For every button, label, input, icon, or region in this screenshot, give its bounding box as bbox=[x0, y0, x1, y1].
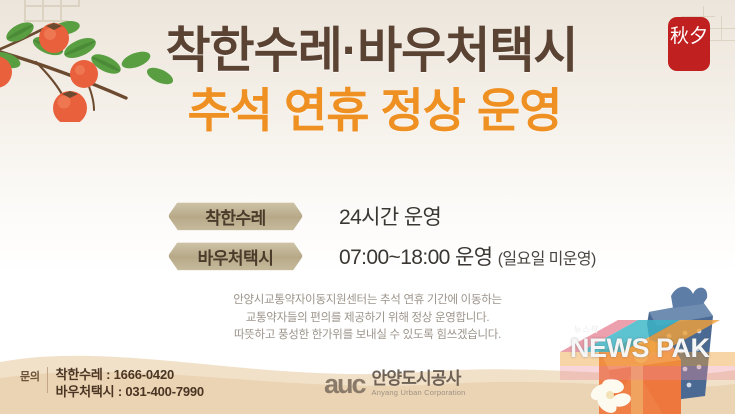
anyang-urban-corporation-logo: auc 안양도시공사 Anyang Urban Corporation bbox=[324, 370, 466, 398]
logo-text-block: 안양도시공사 Anyang Urban Corporation bbox=[372, 370, 466, 398]
contact-lines: 착한수레 : 1666-0420 바우처택시 : 031-400-7990 bbox=[56, 366, 204, 400]
page-subtitle: 추석 연휴 정상 운영 bbox=[0, 80, 735, 142]
contact-label: 문의 bbox=[20, 366, 40, 384]
headline-block: 착한수레·바우처택시 추석 연휴 정상 운영 bbox=[0, 22, 735, 142]
footer-contact-block: 문의 착한수레 : 1666-0420 바우처택시 : 031-400-7990 bbox=[20, 366, 204, 400]
service-chip-chakhansure: 착한수레 bbox=[168, 202, 303, 231]
service-chip-voucher-taxi: 바우처택시 bbox=[168, 242, 303, 271]
service-hours-chakhansure: 24시간 운영 bbox=[339, 201, 441, 231]
news-pak-watermark: 뉴스팍 NEWS PAK bbox=[560, 318, 735, 380]
chuseok-service-notice-banner: 秋夕 착한수레·바우처택시 추석 연휴 정상 운영 착한수레 24시간 운영 바… bbox=[0, 0, 735, 414]
service-row-chakhansure: 착한수레 24시간 운영 bbox=[0, 196, 735, 236]
service-hours-value: 07:00~18:00 운영 bbox=[339, 246, 492, 269]
page-title: 착한수레·바우처택시 bbox=[0, 22, 735, 80]
service-hours-note: (일요일 미운영) bbox=[498, 251, 596, 268]
service-hours-voucher-taxi: 07:00~18:00 운영 (일요일 미운영) bbox=[339, 241, 596, 271]
service-hours-value: 24시간 운영 bbox=[339, 206, 441, 229]
logo-name-english: Anyang Urban Corporation bbox=[372, 388, 466, 398]
logo-name-korean: 안양도시공사 bbox=[372, 370, 466, 388]
watermark-english-text: NEWS PAK bbox=[570, 333, 710, 364]
contact-line-chakhansure[interactable]: 착한수레 : 1666-0420 bbox=[56, 366, 204, 383]
contact-line-voucher-taxi[interactable]: 바우처택시 : 031-400-7990 bbox=[56, 383, 204, 400]
contact-divider bbox=[47, 367, 48, 393]
logo-mark-auc: auc bbox=[324, 371, 365, 398]
